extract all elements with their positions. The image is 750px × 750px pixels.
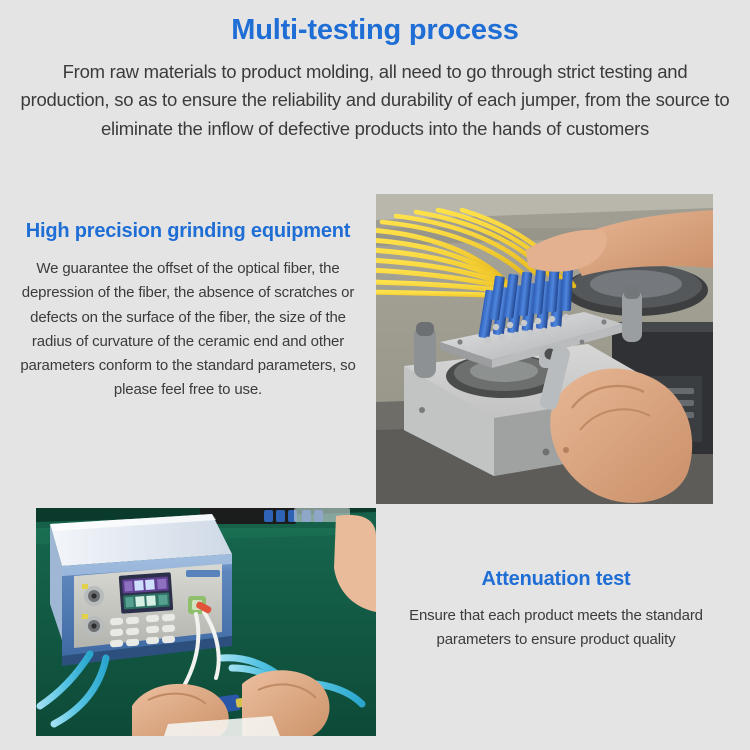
product-info-page: Multi-testing process From raw materials… (0, 0, 750, 750)
hero-section: Multi-testing process From raw materials… (0, 0, 750, 144)
page-title: Multi-testing process (0, 13, 750, 48)
photo-attenuation-test (36, 508, 376, 736)
hero-subtitle: From raw materials to product molding, a… (19, 58, 731, 144)
section-title-attenuation: Attenuation test (382, 566, 730, 593)
section-title-grinding: High precision grinding equipment (12, 218, 364, 245)
section-body-attenuation: Ensure that each product meets the stand… (382, 604, 730, 653)
fiber-polishing-machine-illustration (376, 194, 713, 504)
section-body-grinding: We guarantee the offset of the optical f… (12, 257, 364, 403)
section-attenuation-text: Attenuation test Ensure that each produc… (382, 566, 730, 653)
photo-grinding-equipment (376, 194, 713, 504)
section-grinding-text: High precision grinding equipment We gua… (12, 218, 364, 403)
optical-power-meter-illustration (36, 508, 376, 736)
